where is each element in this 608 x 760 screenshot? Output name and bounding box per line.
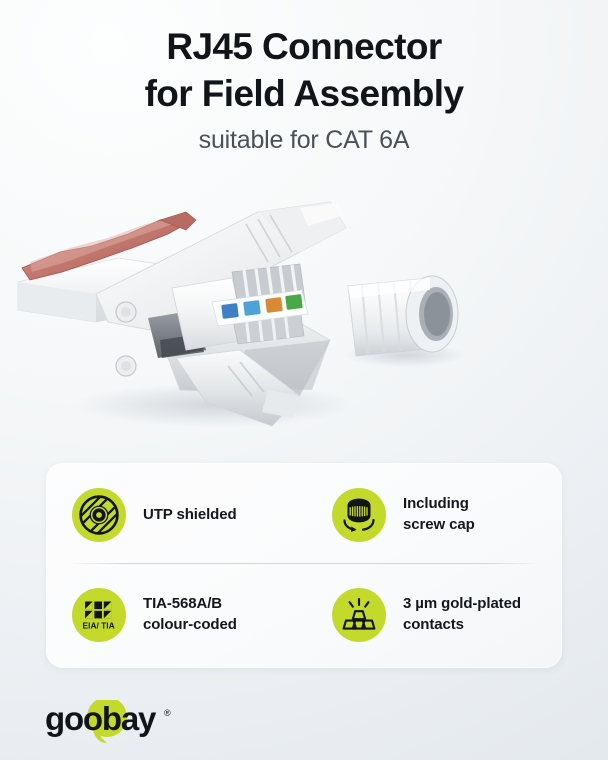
feature-gold-plated-contacts: 3 µm gold-plated contacts <box>318 565 562 665</box>
feature-label-line-1: TIA-568A/B <box>143 595 222 612</box>
feature-label: Including screw cap <box>403 494 475 535</box>
feature-label: TIA-568A/B colour-coded <box>143 594 237 635</box>
feature-label-line-2: contacts <box>403 615 521 636</box>
page-title-line-1: RJ45 Connector <box>0 24 608 71</box>
feature-label-line-1: UTP shielded <box>143 506 237 523</box>
hinge-pins <box>116 302 136 376</box>
feature-label-line-1: Including <box>403 495 469 512</box>
feature-label-line-2: colour-coded <box>143 615 237 636</box>
product-banner: RJ45 Connector for Field Assembly suitab… <box>0 0 608 760</box>
feature-label-line-2: screw cap <box>403 515 475 536</box>
feature-row-1: UTP shielded <box>46 465 562 565</box>
goobay-logo: goobay ® <box>45 700 225 744</box>
header: RJ45 Connector for Field Assembly suitab… <box>0 24 608 155</box>
feature-label: UTP shielded <box>143 505 237 526</box>
feature-card: UTP shielded <box>46 463 562 668</box>
logo-wordmark: goobay <box>45 700 157 737</box>
screw-cap-icon <box>332 488 386 542</box>
feature-utp-shielded: UTP shielded <box>46 465 318 565</box>
shielded-cable-icon <box>72 488 126 542</box>
feature-tia-colour-coded: EIA/ TIA TIA-568A/B colour-coded <box>46 565 318 665</box>
feature-label: 3 µm gold-plated contacts <box>403 594 521 635</box>
product-image <box>0 190 608 445</box>
page-title-line-2: for Field Assembly <box>0 71 608 118</box>
screw-cap <box>348 276 458 356</box>
feature-row-2: EIA/ TIA TIA-568A/B colour-coded <box>46 565 562 665</box>
feature-label-line-1: 3 µm gold-plated <box>403 595 521 612</box>
eia-tia-icon-label: EIA/ TIA <box>83 620 115 630</box>
page-subtitle: suitable for CAT 6A <box>0 125 608 155</box>
logo-trademark-symbol: ® <box>164 708 171 718</box>
feature-screw-cap: Including screw cap <box>318 465 562 565</box>
gold-bars-icon <box>332 588 386 642</box>
eia-tia-grid-icon: EIA/ TIA <box>72 588 126 642</box>
